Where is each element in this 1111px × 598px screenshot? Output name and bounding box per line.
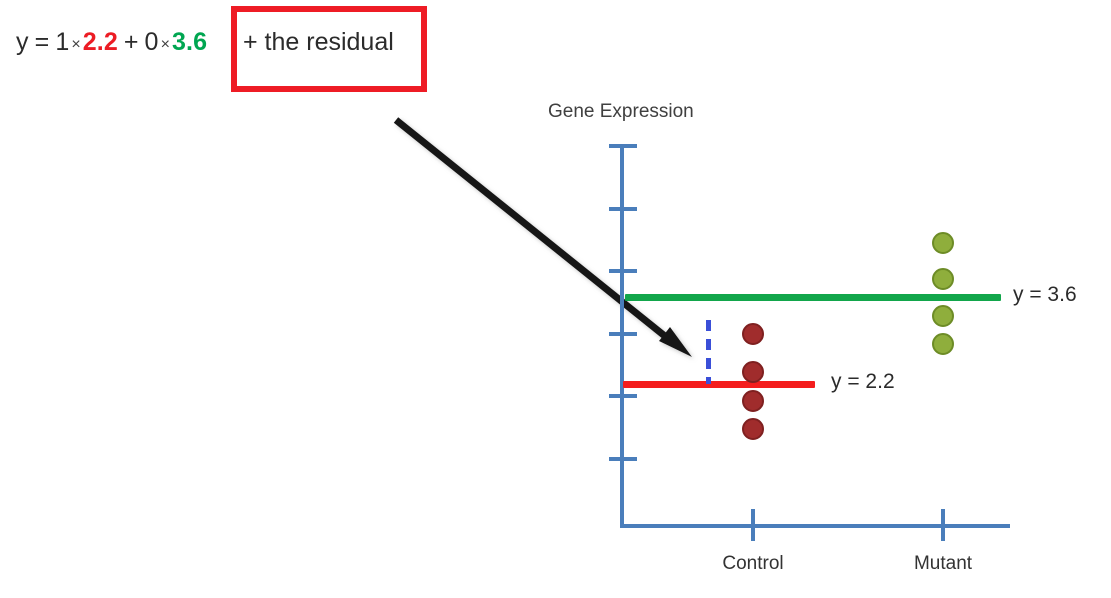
y-axis-tick — [609, 332, 637, 336]
y-axis-tick — [609, 394, 637, 398]
gene-expression-chart: Gene Expression Control Mutant y = 3.6 y… — [0, 0, 1111, 598]
group-label-mutant: Mutant — [914, 553, 972, 575]
data-point-mutant — [932, 268, 954, 290]
control-mean-label: y = 2.2 — [831, 370, 895, 394]
data-point-mutant — [932, 232, 954, 254]
residual-dashed-line — [706, 320, 711, 384]
data-point-control — [742, 418, 764, 440]
y-axis-tick — [609, 269, 637, 273]
chart-axis-title: Gene Expression — [548, 101, 694, 123]
y-axis-tick — [609, 207, 637, 211]
y-axis-tick — [609, 144, 637, 148]
x-axis-line — [620, 524, 1010, 528]
x-axis-tick-mutant — [941, 509, 945, 541]
data-point-mutant — [932, 305, 954, 327]
control-mean-line — [623, 381, 815, 388]
group-label-control: Control — [722, 553, 783, 575]
y-axis-line — [620, 144, 624, 528]
x-axis-tick-control — [751, 509, 755, 541]
mutant-mean-line — [625, 294, 1001, 301]
y-axis-tick — [609, 457, 637, 461]
slide-canvas: y=1×2.2+0×3.6 + the residual Gene Expres… — [0, 0, 1111, 598]
data-point-control — [742, 361, 764, 383]
data-point-control — [742, 390, 764, 412]
mutant-mean-label: y = 3.6 — [1013, 283, 1077, 307]
data-point-mutant — [932, 333, 954, 355]
data-point-control — [742, 323, 764, 345]
